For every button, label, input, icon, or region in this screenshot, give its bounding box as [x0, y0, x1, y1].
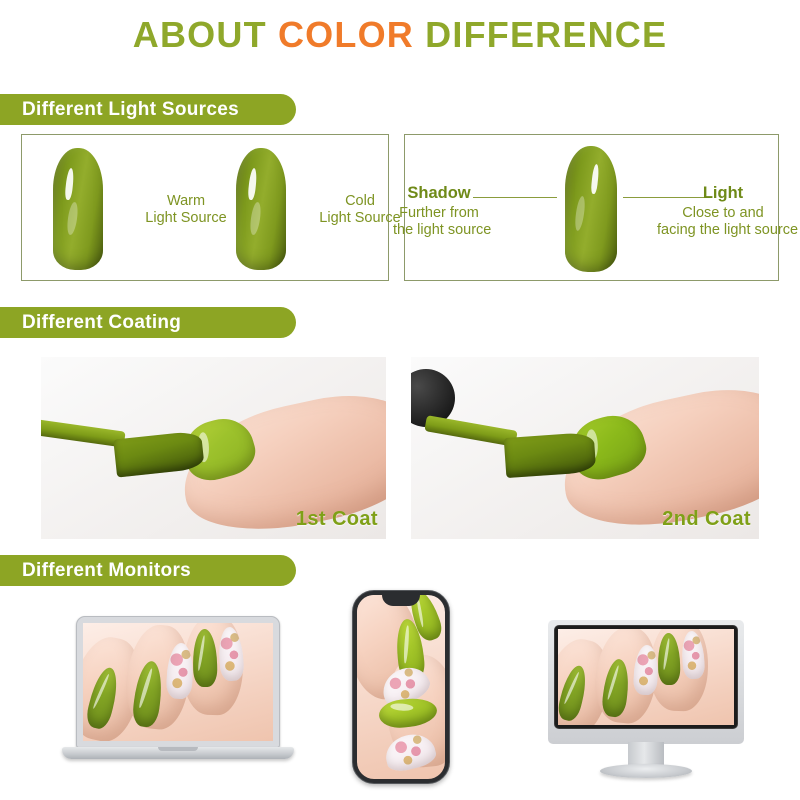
- device-desktop-monitor: [540, 620, 752, 788]
- art-orange-petals: [642, 691, 734, 725]
- title-highlight: COLOR: [278, 14, 414, 55]
- section-header-monitors: Different Monitors: [0, 555, 296, 586]
- label-shadow: Shadow Further from the light source: [393, 185, 485, 239]
- coat-label-second: 2nd Coat: [662, 508, 751, 531]
- art-nail-shine: [138, 668, 153, 708]
- nail-swatch-warm: [53, 148, 103, 270]
- label-light-title: Light: [657, 185, 789, 202]
- label-light-line-2: facing the light source: [657, 222, 789, 239]
- phone-notch: [382, 595, 420, 606]
- nail-art-image: [558, 629, 734, 725]
- nail-highlight-primary: [247, 167, 257, 199]
- label-warm-light-source: Warm Light Source: [126, 193, 246, 227]
- art-nail-shine: [662, 638, 670, 670]
- nail-swatch-shadow-light: [565, 146, 617, 272]
- nail-art-image: [357, 595, 445, 779]
- nail-art-image: [83, 623, 273, 741]
- nail-highlight-primary: [64, 167, 74, 199]
- infographic-page: ABOUT COLOR DIFFERENCE Different Light S…: [0, 0, 800, 800]
- brush-bristles: [504, 432, 597, 478]
- panel-shadow-light: Shadow Further from the light source Lig…: [404, 134, 779, 281]
- art-nail-shine: [607, 665, 621, 700]
- coat-label-first: 1st Coat: [296, 508, 378, 531]
- nail-swatch-cold: [236, 148, 286, 270]
- nail-highlight-secondary: [249, 201, 262, 235]
- photo-first-coat: 1st Coat: [41, 357, 386, 539]
- label-warm-line-1: Warm: [126, 193, 246, 210]
- section-header-coating: Different Coating: [0, 307, 296, 338]
- label-light: Light Close to and facing the light sour…: [657, 185, 789, 239]
- art-nail-shine: [403, 625, 409, 664]
- art-nail-shine: [197, 635, 206, 671]
- label-shadow-line-2: the light source: [393, 222, 485, 239]
- label-shadow-line-1: Further from: [393, 205, 485, 222]
- title-part-2: DIFFERENCE: [414, 14, 667, 55]
- panel-warm-cold: Warm Light Source Cold Light Source: [21, 134, 389, 281]
- leader-line-shadow: [473, 197, 557, 198]
- nail-highlight-primary: [590, 163, 599, 194]
- photo-second-coat: 2nd Coat: [411, 357, 759, 539]
- label-shadow-title: Shadow: [393, 185, 485, 202]
- section-header-light-sources: Different Light Sources: [0, 94, 296, 125]
- laptop-trackpad-notch: [158, 747, 198, 751]
- laptop-screen: [83, 623, 273, 741]
- label-light-line-1: Close to and: [657, 205, 789, 222]
- section-header-coating-label: Different Coating: [22, 312, 181, 334]
- device-laptop: [62, 616, 294, 784]
- nail-highlight-secondary: [574, 196, 587, 232]
- phone-screen: [357, 595, 445, 779]
- art-orange-petals: [179, 699, 273, 741]
- section-header-light-sources-label: Different Light Sources: [22, 99, 239, 121]
- title-part-1: ABOUT: [133, 14, 278, 55]
- page-title: ABOUT COLOR DIFFERENCE: [0, 14, 800, 56]
- monitor-foot: [600, 764, 692, 778]
- label-warm-line-2: Light Source: [126, 210, 246, 227]
- device-phone: [352, 590, 450, 786]
- nail-highlight-secondary: [66, 201, 79, 235]
- section-header-monitors-label: Different Monitors: [22, 560, 191, 582]
- art-nail-shine: [390, 703, 414, 712]
- monitor-screen: [558, 629, 734, 725]
